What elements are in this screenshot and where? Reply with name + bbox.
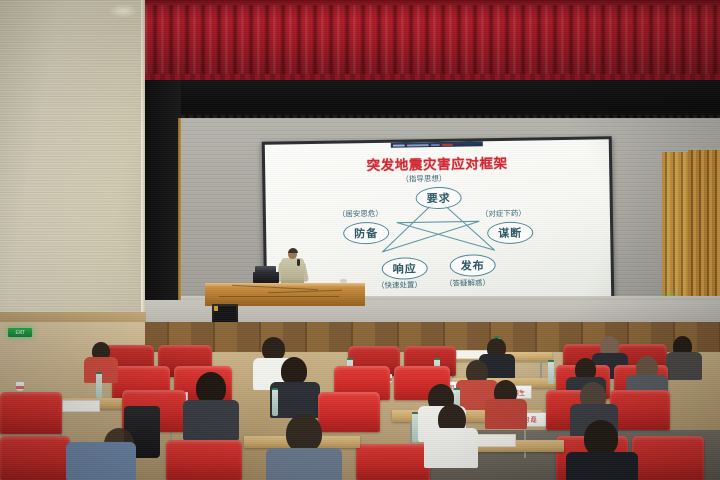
node-caption-left: （居安思危） [338, 208, 383, 220]
seat [632, 436, 704, 480]
toolbar-chip [431, 143, 440, 145]
audience-body [183, 400, 239, 440]
podium-edge [205, 283, 365, 287]
toolbar-chip [407, 144, 429, 146]
node-caption-top: （指导思想） [401, 173, 446, 185]
left-wall [0, 0, 145, 322]
audience-head [584, 420, 618, 456]
presenter-body [281, 258, 304, 286]
water-bottle [548, 360, 554, 384]
stage-left-masking-leg [145, 80, 181, 326]
seat [610, 390, 670, 430]
seat [356, 444, 430, 480]
node-caption-bottom-right: （答疑解惑） [445, 277, 490, 289]
audience-body [66, 442, 136, 480]
microphone-icon [297, 259, 300, 266]
node-label: 响应 [393, 260, 417, 276]
node-caption-bottom-left: （快速处置） [377, 279, 422, 291]
audience-body [566, 452, 638, 480]
stage-masking-border [145, 80, 720, 122]
audience-body [266, 448, 342, 480]
water-bottle [96, 372, 102, 398]
water-bottle [272, 388, 278, 416]
node-caption-right: （对症下药） [481, 208, 526, 220]
toolbar-chip [393, 144, 405, 146]
slide-content: 突发地震灾害应对框架 （指导思想） 要求 （居安思危） 防备 （对症下药） [265, 144, 611, 302]
stage-curtain-valance [145, 0, 720, 80]
laptop [253, 272, 279, 283]
projection-screen-frame: 突发地震灾害应对框架 （指导思想） 要求 （居安思危） 防备 （对症下药） [262, 136, 615, 305]
seat [166, 440, 242, 480]
exit-sign-label: EXIT [15, 330, 24, 336]
mouse [340, 279, 347, 283]
audience-head [281, 357, 307, 385]
cup-band [16, 386, 24, 389]
node-label: 谋断 [498, 225, 522, 241]
toolbar-accent-chip [442, 143, 453, 145]
audience-body [485, 399, 527, 429]
seat [318, 392, 380, 432]
presenter-hair [288, 248, 298, 253]
audience-body [424, 428, 478, 468]
speaker-badge [214, 306, 218, 311]
audience-body [666, 352, 702, 380]
water-bottle [412, 412, 418, 442]
node-label: 要求 [427, 190, 451, 206]
node-label: 防备 [354, 225, 378, 241]
exit-sign-left: EXIT [8, 328, 32, 337]
curtain-rail [145, 0, 720, 5]
projection-screen: 突发地震灾害应对框架 （指导思想） 要求 （居安思危） 防备 （对症下药） [265, 139, 611, 302]
seat [0, 392, 62, 434]
document [62, 400, 100, 412]
audience-head [286, 414, 322, 452]
cable [219, 296, 339, 297]
wall-light-glow [108, 4, 138, 18]
node-label: 发布 [461, 257, 485, 273]
curtain-shading [145, 0, 720, 80]
seat [0, 436, 70, 480]
auditorium-scene: EXIT 突发地震灾害应对框架 （指导思想） 要求 [0, 0, 720, 480]
star-diagram-lines [265, 144, 611, 302]
